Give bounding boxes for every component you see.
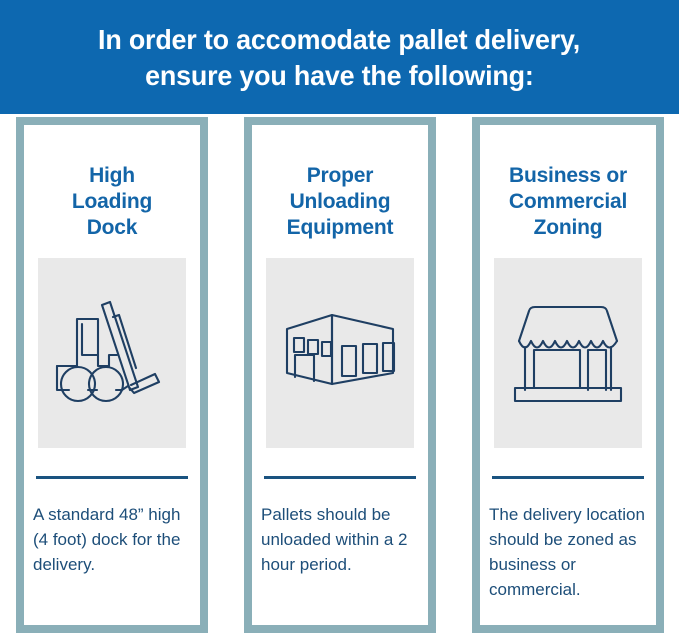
card-title-line-1: Business or [509,163,627,189]
card-divider [264,476,416,479]
card-title: Business or Commercial Zoning [509,163,627,241]
card-inner: Proper Unloading Equipment [252,125,428,625]
icon-box [266,258,414,448]
card-high-loading-dock: High Loading Dock [16,117,208,633]
icon-box [494,258,642,448]
header-title-line-2: ensure you have the following: [145,58,534,94]
card-title-line-1: Proper [287,163,394,189]
card-proper-unloading-equipment: Proper Unloading Equipment [244,117,436,633]
card-title-line-3: Zoning [509,215,627,241]
card-title-line-3: Equipment [287,215,394,241]
card-divider [36,476,188,479]
card-title-line-2: Unloading [287,189,394,215]
card-title: Proper Unloading Equipment [287,163,394,241]
requirements-card-row: High Loading Dock [16,117,664,633]
card-inner: Business or Commercial Zoning [480,125,656,625]
header-banner: In order to accomodate pallet delivery, … [0,0,679,114]
storefront-icon [509,302,627,404]
card-business-commercial-zoning: Business or Commercial Zoning [472,117,664,633]
icon-box [38,258,186,448]
card-description: The delivery location should be zoned as… [489,502,647,602]
infographic-page: In order to accomodate pallet delivery, … [0,0,679,639]
forklift-icon [52,289,172,417]
card-divider [492,476,644,479]
card-title: High Loading Dock [72,163,152,241]
warehouse-building-icon [281,310,399,396]
card-description: A standard 48” high (4 foot) dock for th… [33,502,191,577]
card-description: Pallets should be unloaded within a 2 ho… [261,502,419,577]
card-inner: High Loading Dock [24,125,200,625]
card-title-line-2: Loading [72,189,152,215]
card-title-line-3: Dock [72,215,152,241]
card-title-line-1: High [72,163,152,189]
header-title-line-1: In order to accomodate pallet delivery, [99,22,581,58]
card-title-line-2: Commercial [509,189,627,215]
